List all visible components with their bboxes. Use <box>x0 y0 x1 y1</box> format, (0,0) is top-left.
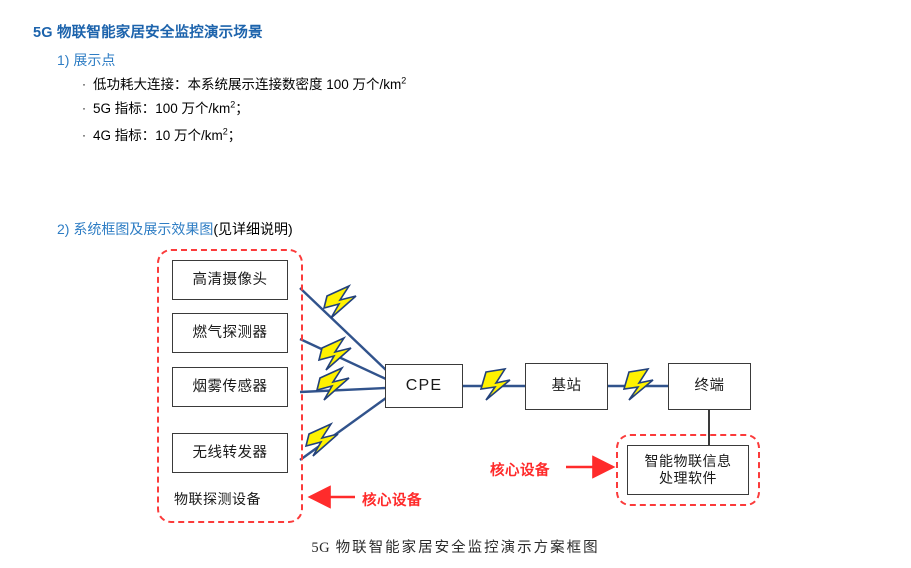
node-smoke-sensor[interactable]: 烟雾传感器 <box>172 367 288 407</box>
figure-caption-prefix: 5G <box>311 540 330 556</box>
system-block-diagram <box>0 0 911 568</box>
node-camera[interactable]: 高清摄像头 <box>172 260 288 300</box>
software-line-1: 智能物联信息 <box>645 453 732 469</box>
bolt-icon-camera <box>324 286 356 318</box>
figure-caption-rest: 物联智能家居安全监控演示方案框图 <box>336 540 600 556</box>
bolt-icon-cpe-basestation <box>481 369 510 400</box>
node-terminal[interactable]: 终端 <box>668 363 751 410</box>
bolt-icon-gas <box>319 338 351 370</box>
node-wireless-repeater[interactable]: 无线转发器 <box>172 433 288 473</box>
node-cpe[interactable]: CPE <box>385 364 463 408</box>
bolt-icon-basestation-terminal <box>624 369 653 400</box>
bolt-icon-smoke <box>317 368 349 400</box>
iot-sensor-group-label: 物联探测设备 <box>174 489 261 509</box>
node-gas-detector[interactable]: 燃气探测器 <box>172 313 288 353</box>
link-repeater-cpe <box>300 398 386 460</box>
node-iot-software[interactable]: 智能物联信息 处理软件 <box>627 445 749 495</box>
node-base-station[interactable]: 基站 <box>525 363 608 410</box>
figure-caption: 5G 物联智能家居安全监控演示方案框图 <box>0 536 911 557</box>
software-line-2: 处理软件 <box>659 470 717 486</box>
link-smoke-cpe <box>300 388 386 392</box>
annotation-core-device-right: 核心设备 <box>490 459 550 480</box>
node-iot-software-text: 智能物联信息 处理软件 <box>645 453 732 488</box>
annotation-core-device-left: 核心设备 <box>362 489 422 510</box>
